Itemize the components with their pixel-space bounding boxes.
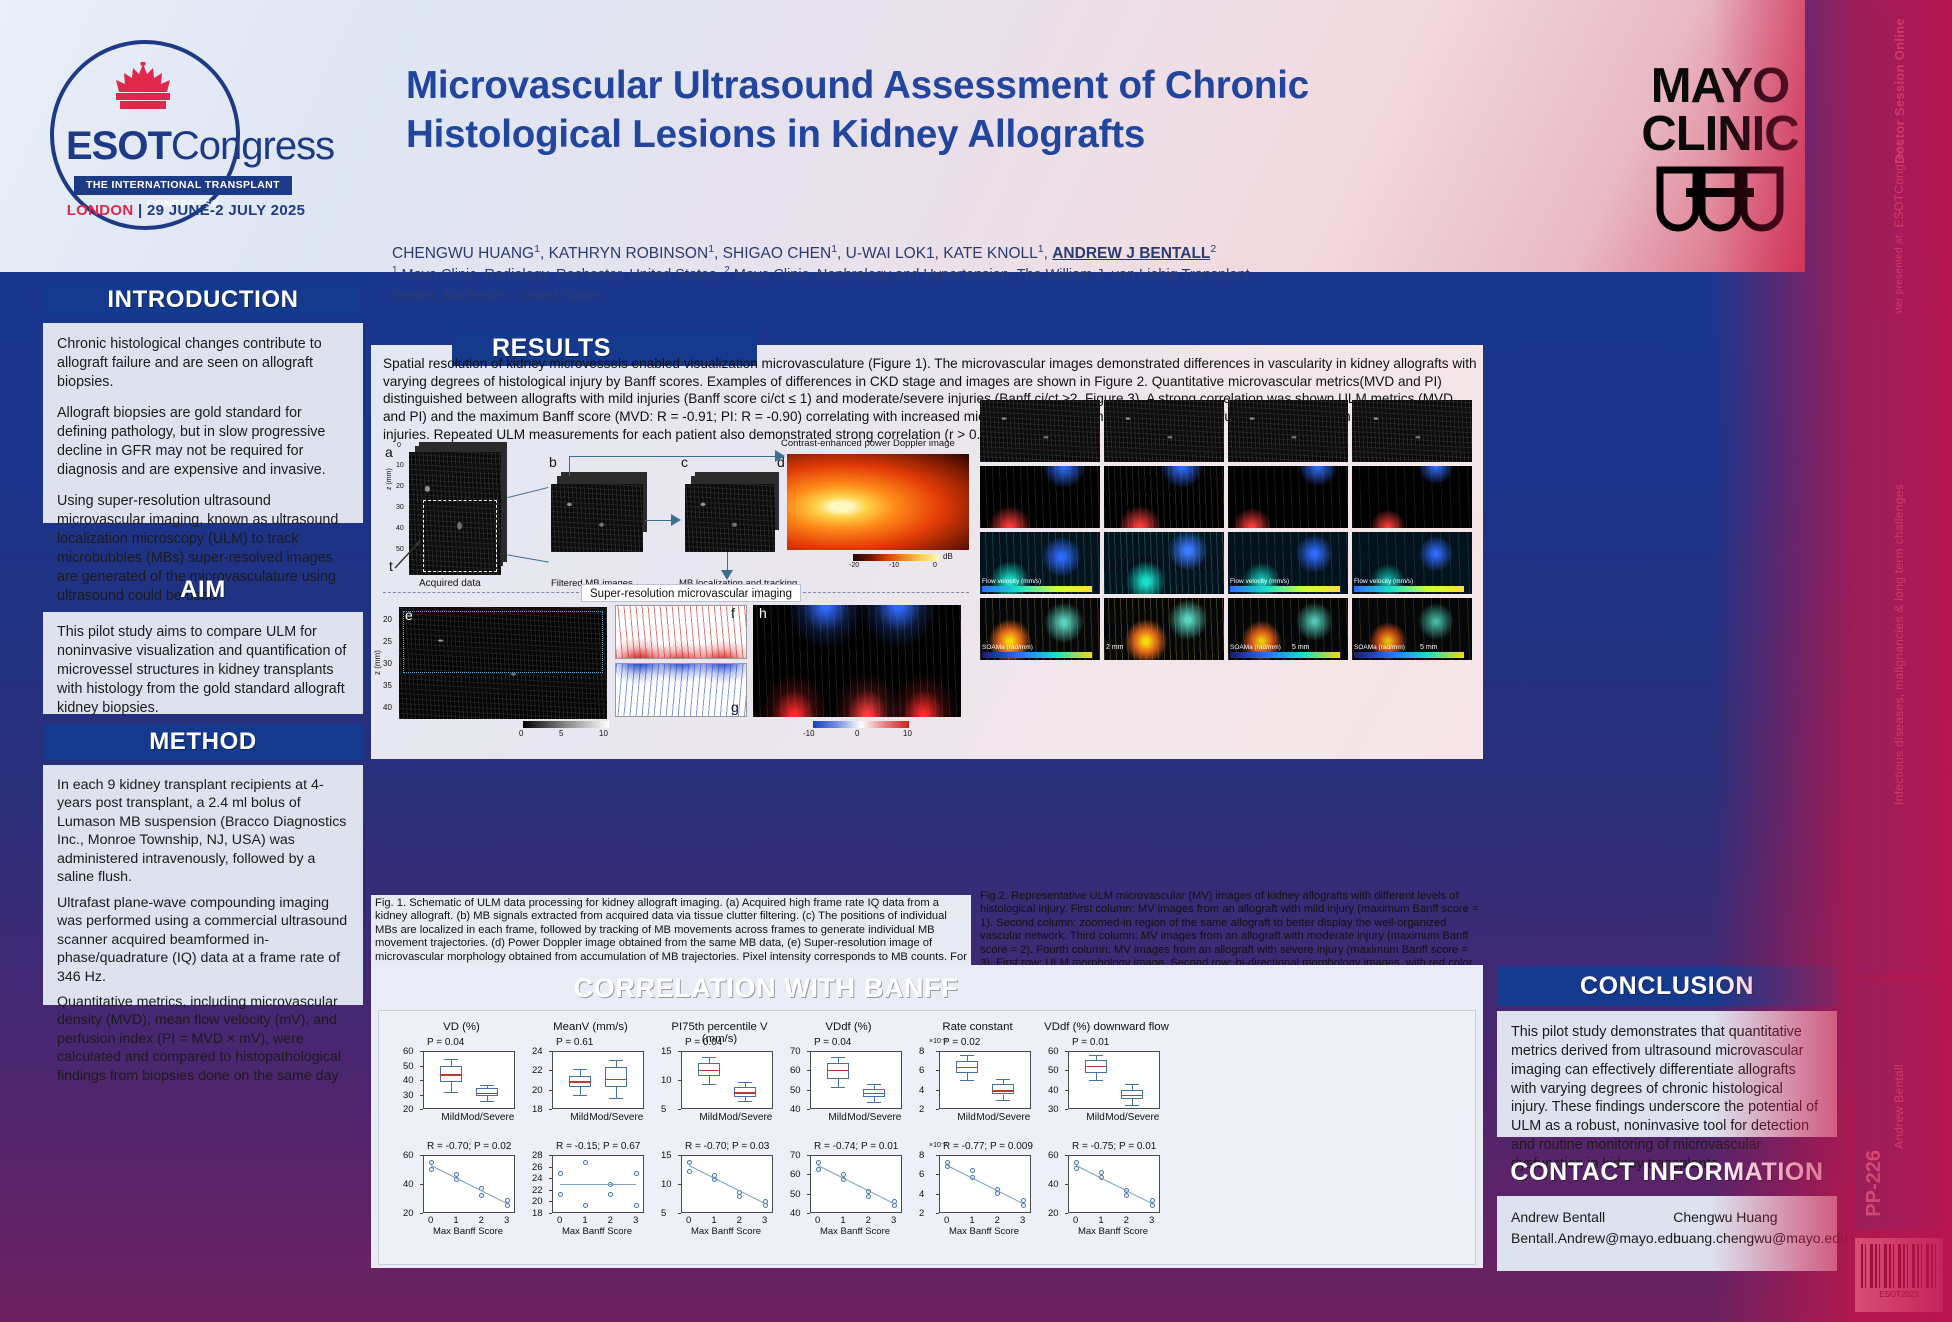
figure1-e-tick-25: 25 bbox=[383, 637, 392, 646]
chart-7-xlabel: Max Banff Score bbox=[407, 1226, 529, 1237]
chart-5-ytick-0: 2 bbox=[919, 1104, 924, 1115]
barcode-icon bbox=[1861, 1244, 1937, 1288]
section-heading-method: METHOD bbox=[43, 724, 363, 760]
section-heading-aim: AIM bbox=[43, 573, 363, 607]
aim-paragraph-1: This pilot study aims to compare ULM for… bbox=[57, 623, 349, 718]
figure2-scalebar-3: 5 mm bbox=[1420, 644, 1438, 651]
figure2-cbar-label-3: Flow velocity (mm/s) bbox=[1354, 578, 1413, 585]
figure1-e-tick-30: 30 bbox=[383, 659, 392, 668]
chart-8-ytick-1: 20 bbox=[532, 1196, 543, 1207]
chart-2-ytick-3: 24 bbox=[532, 1046, 543, 1057]
chart-12-ytick-0: 20 bbox=[1048, 1208, 1059, 1219]
chart-12-ytick-1: 40 bbox=[1048, 1179, 1059, 1190]
chart-6-ytick-3: 60 bbox=[1048, 1046, 1059, 1057]
chart-annotation-2: P = 0.61 bbox=[556, 1037, 593, 1048]
figure1-superres-banner: Super-resolution microvascular imaging bbox=[581, 584, 801, 602]
chart-4-xcat-1: Mod/Severe bbox=[846, 1112, 902, 1123]
chart-title-1: VD (%) bbox=[397, 1021, 526, 1033]
figure-2: Flow velocity (mm/s) Flow velocity (mm/s… bbox=[980, 400, 1480, 670]
chart-12-xtick-1: 1 bbox=[1098, 1215, 1103, 1226]
figure1-e-cbar-0: 0 bbox=[519, 729, 523, 738]
figure2-cbar-label-4: SOAMa (rad/mm) bbox=[982, 644, 1033, 651]
chart-cell-9: R = -0.70; P = 0.03510150123Max Banff Sc… bbox=[655, 1139, 784, 1254]
chart-8-xtick-0: 0 bbox=[557, 1215, 562, 1226]
chart-10-xlabel: Max Banff Score bbox=[794, 1226, 916, 1237]
esot-wordmark: ESOTCongress bbox=[66, 126, 306, 166]
esot-tagline: THE INTERNATIONAL TRANSPLANT CONGRESS® bbox=[74, 176, 292, 195]
chart-12-point-5 bbox=[1124, 1193, 1129, 1198]
chart-9-xtick-2: 2 bbox=[737, 1215, 742, 1226]
chart-1-ytick-4: 60 bbox=[403, 1046, 414, 1057]
figure1-e-tick-35: 35 bbox=[383, 681, 392, 690]
chart-4-ytick-1: 50 bbox=[790, 1085, 801, 1096]
chart-title-5: Rate constant bbox=[913, 1021, 1042, 1033]
chart-annotation-12: R = -0.75; P = 0.01 bbox=[1072, 1141, 1156, 1152]
section-body-method: In each 9 kidney transplant recipients a… bbox=[43, 765, 363, 1005]
chart-8-trendline bbox=[560, 1184, 636, 1185]
figure2-scalebar-1: 2 mm bbox=[1106, 644, 1124, 651]
chart-11-xtick-0: 0 bbox=[944, 1215, 949, 1226]
chart-title-2: MeanV (mm/s) bbox=[526, 1021, 655, 1033]
chart-cell-3: PI75th percentile V (mm/s)P = 0.0451015M… bbox=[655, 1021, 784, 1136]
chart-7-xtick-1: 1 bbox=[453, 1215, 458, 1226]
chart-12-xtick-2: 2 bbox=[1124, 1215, 1129, 1226]
chart-4-ytick-0: 40 bbox=[790, 1104, 801, 1115]
chart-8-xtick-3: 3 bbox=[633, 1215, 638, 1226]
affiliations: 1 Mayo Clinic, Radiology, Rochester, Uni… bbox=[392, 264, 1292, 307]
chart-cell-1: VD (%)P = 0.042030405060MildMod/Severe bbox=[397, 1021, 526, 1136]
chart-9-ytick-2: 15 bbox=[661, 1150, 672, 1161]
chart-8-ytick-3: 24 bbox=[532, 1173, 543, 1184]
chart-cell-12: R = -0.75; P = 0.012040600123Max Banff S… bbox=[1042, 1139, 1171, 1254]
figure1-label-f: f bbox=[731, 605, 735, 621]
esot-thin-text: Congress bbox=[171, 124, 334, 168]
chart-8-point-2 bbox=[583, 1203, 588, 1208]
chart-7-ytick-1: 40 bbox=[403, 1179, 414, 1190]
section-body-conclusion: This pilot study demonstrates that quant… bbox=[1497, 1011, 1837, 1137]
chart-2-ytick-1: 20 bbox=[532, 1085, 543, 1096]
mayo-text-line1: MAYO bbox=[1620, 62, 1820, 110]
chart-annotation-11: R = -0.77; P = 0.009 bbox=[943, 1141, 1033, 1152]
chart-annotation-9: R = -0.70; P = 0.03 bbox=[685, 1141, 769, 1152]
chart-axis-exponent-5: ×10⁻³ bbox=[929, 1037, 947, 1045]
figure2-tile-r1c1 bbox=[980, 400, 1100, 462]
chart-7-xtick-3: 3 bbox=[504, 1215, 509, 1226]
esot-city-dates: LONDON | 29 JUNE-2 JULY 2025 bbox=[66, 202, 306, 219]
chart-plot-area-5 bbox=[939, 1051, 1031, 1109]
figure2-tile-r2c1 bbox=[980, 466, 1100, 528]
chart-10-ytick-1: 50 bbox=[790, 1189, 801, 1200]
chart-1-ytick-3: 50 bbox=[403, 1061, 414, 1072]
figure2-scalebar-2: 5 mm bbox=[1292, 644, 1310, 651]
chart-7-xtick-2: 2 bbox=[479, 1215, 484, 1226]
chart-6-ytick-0: 30 bbox=[1048, 1104, 1059, 1115]
section-body-contact: Andrew Bentall Bentall.Andrew@mayo.edu C… bbox=[1497, 1196, 1837, 1271]
chart-4-ytick-2: 60 bbox=[790, 1065, 801, 1076]
method-paragraph-2: Ultrafast plane-wave compounding imaging… bbox=[57, 894, 349, 986]
figure1-panel-d-image bbox=[787, 454, 969, 550]
chart-6-xcat-1: Mod/Severe bbox=[1104, 1112, 1160, 1123]
chart-12-xtick-0: 0 bbox=[1073, 1215, 1078, 1226]
figure1-e-cbar-10: 10 bbox=[599, 729, 608, 738]
poster-header: ESOTCongress THE INTERNATIONAL TRANSPLAN… bbox=[0, 0, 1805, 272]
method-paragraph-1: In each 9 kidney transplant recipients a… bbox=[57, 776, 349, 887]
chart-10-xtick-2: 2 bbox=[866, 1215, 871, 1226]
chart-plot-area-2 bbox=[552, 1051, 644, 1109]
chart-annotation-8: R = -0.15; P = 0.67 bbox=[556, 1141, 640, 1152]
section-heading-introduction: INTRODUCTION bbox=[43, 282, 363, 318]
chart-11-xtick-1: 1 bbox=[969, 1215, 974, 1226]
contact-column-1: Andrew Bentall Bentall.Andrew@mayo.edu bbox=[1511, 1207, 1673, 1249]
figure1-panel-f-image bbox=[615, 605, 747, 659]
section-body-introduction: Chronic histological changes contribute … bbox=[43, 323, 363, 523]
chart-7-point-1 bbox=[429, 1167, 434, 1172]
presenting-author: ANDREW J BENTALL bbox=[1052, 245, 1210, 262]
figure2-cbar-label-6: SOAMa (rad/mm) bbox=[1354, 644, 1405, 651]
mayo-text-line2: CLINIC bbox=[1620, 110, 1820, 158]
chart-9-ytick-0: 5 bbox=[661, 1208, 666, 1219]
chart-5-ytick-3: 8 bbox=[919, 1046, 924, 1057]
chart-8-point-7 bbox=[634, 1171, 639, 1176]
contact-person-2-name: Chengwu Huang bbox=[1673, 1207, 1817, 1228]
chart-11-xlabel: Max Banff Score bbox=[923, 1226, 1045, 1237]
chart-annotation-10: R = -0.74; P = 0.01 bbox=[814, 1141, 898, 1152]
chart-5-ytick-1: 4 bbox=[919, 1085, 924, 1096]
figure1-panel-h-image bbox=[753, 605, 961, 717]
figure1-db-tick-max: 0 bbox=[933, 562, 937, 569]
chart-plot-area-6 bbox=[1068, 1051, 1160, 1109]
chart-8-point-1 bbox=[558, 1171, 563, 1176]
chart-annotation-1: P = 0.04 bbox=[427, 1037, 464, 1048]
figure1-a-tick-20: 20 bbox=[396, 483, 404, 490]
figure1-time-arrow-icon bbox=[391, 536, 425, 570]
chart-3-ytick-2: 15 bbox=[661, 1046, 672, 1057]
chart-3-ytick-0: 5 bbox=[661, 1104, 666, 1115]
section-heading-correlation: CORRELATION WITH BANFF bbox=[371, 966, 1161, 1010]
chart-8-xlabel: Max Banff Score bbox=[536, 1226, 658, 1237]
chart-10-xtick-1: 1 bbox=[840, 1215, 845, 1226]
figure1-label-b: b bbox=[549, 454, 557, 470]
chart-annotation-5: P = 0.02 bbox=[943, 1037, 980, 1048]
figure1-a-tick-40: 40 bbox=[396, 525, 404, 532]
rail-topic-text: Infectious diseases, malignancies & long… bbox=[1892, 484, 1906, 805]
chart-5-xcat-1: Mod/Severe bbox=[975, 1112, 1031, 1123]
chart-10-ytick-0: 40 bbox=[790, 1208, 801, 1219]
chart-10-xtick-0: 0 bbox=[815, 1215, 820, 1226]
chart-cell-5: Rate constantP = 0.02×10⁻³2468MildMod/Se… bbox=[913, 1021, 1042, 1136]
chart-8-xtick-2: 2 bbox=[608, 1215, 613, 1226]
chart-3-ytick-1: 10 bbox=[661, 1075, 672, 1086]
figure1-stage-acquired: Acquired data bbox=[419, 578, 481, 589]
figure2-cbar-label-5: SOAMa (rad/mm) bbox=[1230, 644, 1281, 651]
figure1-db-label: dB bbox=[943, 552, 953, 561]
chart-11-xtick-2: 2 bbox=[995, 1215, 1000, 1226]
figure1-label-d: d bbox=[777, 454, 785, 470]
chart-2-ytick-2: 22 bbox=[532, 1065, 543, 1076]
chart-9-point-1 bbox=[687, 1169, 692, 1174]
chart-1-ytick-0: 20 bbox=[403, 1104, 414, 1115]
contact-person-1-email[interactable]: Bentall.Andrew@mayo.edu bbox=[1511, 1228, 1673, 1249]
figure1-a-tick-10: 10 bbox=[396, 462, 404, 469]
method-paragraph-3: Quantitative metrics, including microvas… bbox=[57, 993, 349, 1085]
esot-logo: ESOTCongress THE INTERNATIONAL TRANSPLAN… bbox=[36, 30, 298, 245]
chart-8-point-6 bbox=[634, 1203, 639, 1208]
rail-author-text: Andrew Bentall bbox=[1892, 1064, 1906, 1149]
chart-11-ytick-0: 2 bbox=[919, 1208, 924, 1219]
chart-8-point-0 bbox=[558, 1192, 563, 1197]
figure2-tile-r1c2 bbox=[1104, 400, 1224, 462]
figure1-e-cbar-5: 5 bbox=[559, 729, 563, 738]
chart-8-point-3 bbox=[583, 1160, 588, 1165]
chart-2-ytick-0: 18 bbox=[532, 1104, 543, 1115]
figure-1-bottom-row: 20 25 30 35 40 z (mm) e 0 5 10 f g h -10… bbox=[383, 603, 975, 723]
author-list: CHENGWU HUANG1, KATHRYN ROBINSON1, SHIGA… bbox=[392, 243, 1372, 263]
figure1-db-tick-mid: -10 bbox=[889, 562, 899, 569]
esot-city: LONDON bbox=[67, 202, 134, 219]
chart-cell-6: VDdf (%) downward flowP = 0.0130405060Mi… bbox=[1042, 1021, 1171, 1136]
chart-11-ytick-2: 6 bbox=[919, 1169, 924, 1180]
chart-10-ytick-3: 70 bbox=[790, 1150, 801, 1161]
chart-title-6: VDdf (%) downward flow bbox=[1042, 1021, 1171, 1033]
chart-7-ytick-2: 60 bbox=[403, 1150, 414, 1161]
figure1-db-tick-min: -20 bbox=[849, 562, 859, 569]
chart-8-xtick-1: 1 bbox=[582, 1215, 587, 1226]
chart-annotation-6: P = 0.01 bbox=[1072, 1037, 1109, 1048]
figure1-a-tick-30: 30 bbox=[396, 504, 404, 511]
figure2-tile-r2c2 bbox=[1104, 466, 1224, 528]
figure1-e-axis-label: z (mm) bbox=[373, 650, 382, 675]
figure1-e-tick-40: 40 bbox=[383, 703, 392, 712]
chart-9-xlabel: Max Banff Score bbox=[665, 1226, 787, 1237]
chart-cell-7: R = -0.70; P = 0.022040600123Max Banff S… bbox=[397, 1139, 526, 1254]
figure1-panel-g-image bbox=[615, 663, 747, 717]
contact-column-2: Chengwu Huang huang.chengwu@mayo.edu bbox=[1673, 1207, 1817, 1249]
chart-1-xcat-1: Mod/Severe bbox=[459, 1112, 515, 1123]
chart-2-box-1 bbox=[605, 1067, 627, 1087]
chart-4-ytick-3: 70 bbox=[790, 1046, 801, 1057]
figure1-panel-c-image bbox=[685, 484, 775, 552]
figure1-h-cbar-max: 10 bbox=[903, 729, 912, 738]
chart-11-point-2 bbox=[970, 1168, 975, 1173]
chart-cell-10: R = -0.74; P = 0.01405060700123Max Banff… bbox=[784, 1139, 913, 1254]
figure1-e-tick-20: 20 bbox=[383, 615, 392, 624]
chart-9-xtick-0: 0 bbox=[686, 1215, 691, 1226]
chart-1-ytick-2: 40 bbox=[403, 1075, 414, 1086]
rail-barcode-card: ESOT2023 bbox=[1855, 1238, 1943, 1312]
figure2-cbar-label-2: Flow velocity (mm/s) bbox=[1230, 578, 1289, 585]
chart-11-xtick-3: 3 bbox=[1020, 1215, 1025, 1226]
mayo-clinic-logo: MAYO CLINIC bbox=[1620, 62, 1820, 253]
chart-6-ytick-2: 50 bbox=[1048, 1065, 1059, 1076]
charts-root: VD (%)P = 0.042030405060MildMod/SevereMe… bbox=[379, 1011, 1475, 1264]
figure1-panel-b-image bbox=[551, 484, 643, 552]
contact-person-2-email[interactable]: huang.chengwu@mayo.edu bbox=[1673, 1228, 1817, 1249]
figure1-label-a: a bbox=[385, 444, 393, 460]
chart-cell-8: R = -0.15; P = 0.671820222426280123Max B… bbox=[526, 1139, 655, 1254]
rail-card-branding: Doctor Session Online ESOTCongress Poste… bbox=[1855, 10, 1943, 306]
esot-sep: | bbox=[138, 202, 143, 219]
barcode-label: ESOT2023 bbox=[1855, 1290, 1943, 1299]
figure1-h-cbar-min: -10 bbox=[803, 729, 815, 738]
figure1-a-tick-0: 0 bbox=[397, 442, 401, 449]
chart-10-point-1 bbox=[816, 1167, 821, 1172]
figure2-tile-r3c2 bbox=[1104, 532, 1224, 594]
figure1-h-cbar-mid: 0 bbox=[855, 729, 859, 738]
chart-annotation-4: P = 0.04 bbox=[814, 1037, 851, 1048]
chart-12-xlabel: Max Banff Score bbox=[1052, 1226, 1174, 1237]
section-body-aim: This pilot study aims to compare ULM for… bbox=[43, 612, 363, 714]
chart-12-xtick-3: 3 bbox=[1149, 1215, 1154, 1226]
contact-person-1-name: Andrew Bentall bbox=[1511, 1207, 1673, 1228]
figure1-stage-doppler: Contrast-enhanced power Doppler image bbox=[781, 438, 955, 449]
figure1-label-h: h bbox=[759, 605, 767, 621]
chart-3-xcat-1: Mod/Severe bbox=[717, 1112, 773, 1123]
mayo-shield-icon bbox=[1656, 166, 1784, 248]
chart-2-xcat-1: Mod/Severe bbox=[588, 1112, 644, 1123]
figure2-tile-r2c3 bbox=[1228, 466, 1348, 528]
chart-12-ytick-2: 60 bbox=[1048, 1150, 1059, 1161]
poster-number: PP-226 bbox=[1863, 1150, 1886, 1217]
figure2-cbar-label-1: Flow velocity (mm/s) bbox=[982, 578, 1041, 585]
chart-9-ytick-1: 10 bbox=[661, 1179, 672, 1190]
rail-esot-congress: ESOTCongress bbox=[1892, 140, 1906, 228]
chart-11-ytick-1: 4 bbox=[919, 1189, 924, 1200]
chart-cell-11: R = -0.77; P = 0.009×10⁻³24680123Max Ban… bbox=[913, 1139, 1042, 1254]
section-heading-conclusion: CONCLUSION bbox=[1497, 966, 1837, 1006]
figure2-tile-r1c3 bbox=[1228, 400, 1348, 462]
chart-9-xtick-3: 3 bbox=[762, 1215, 767, 1226]
chart-5-ytick-2: 6 bbox=[919, 1065, 924, 1076]
chart-axis-exponent-11: ×10⁻³ bbox=[929, 1141, 947, 1149]
crown-icon bbox=[98, 62, 188, 116]
chart-6-ytick-1: 40 bbox=[1048, 1085, 1059, 1096]
chart-plot-area-3 bbox=[681, 1051, 773, 1109]
chart-8-ytick-4: 26 bbox=[532, 1162, 543, 1173]
chart-7-ytick-0: 20 bbox=[403, 1208, 414, 1219]
right-side-rail: Doctor Session Online ESOTCongress Poste… bbox=[1845, 0, 1952, 1322]
chart-annotation-3: P = 0.04 bbox=[685, 1037, 722, 1048]
rail-card-topic: Infectious diseases, malignancies & long… bbox=[1855, 314, 1943, 974]
chart-11-ytick-3: 8 bbox=[919, 1150, 924, 1161]
section-heading-contact: CONTACT INFORMATION bbox=[1497, 1152, 1837, 1192]
figure-3: VD (%)P = 0.042030405060MildMod/SevereMe… bbox=[378, 1010, 1476, 1265]
chart-8-ytick-2: 22 bbox=[532, 1185, 543, 1196]
chart-7-xtick-0: 0 bbox=[428, 1215, 433, 1226]
chart-cell-2: MeanV (mm/s)P = 0.6118202224MildMod/Seve… bbox=[526, 1021, 655, 1136]
esot-bold-text: ESOT bbox=[66, 124, 171, 168]
page-title: Microvascular Ultrasound Assessment of C… bbox=[406, 62, 1416, 160]
intro-paragraph-1: Chronic histological changes contribute … bbox=[57, 335, 349, 392]
chart-10-xtick-3: 3 bbox=[891, 1215, 896, 1226]
chart-8-ytick-0: 18 bbox=[532, 1208, 543, 1219]
chart-1-ytick-1: 30 bbox=[403, 1090, 414, 1101]
chart-8-ytick-5: 28 bbox=[532, 1150, 543, 1161]
poster-root: ESOTCongress THE INTERNATIONAL TRANSPLAN… bbox=[0, 0, 1952, 1322]
chart-plot-area-4 bbox=[810, 1051, 902, 1109]
figure1-label-g: g bbox=[731, 699, 739, 715]
esot-dates: 29 JUNE-2 JULY 2025 bbox=[147, 202, 305, 219]
chart-plot-area-1 bbox=[423, 1051, 515, 1109]
chart-9-xtick-1: 1 bbox=[711, 1215, 716, 1226]
chart-10-ytick-2: 60 bbox=[790, 1169, 801, 1180]
intro-paragraph-2: Allograft biopsies are gold standard for… bbox=[57, 404, 349, 480]
chart-cell-4: VDdf (%)P = 0.0440506070MildMod/Severe bbox=[784, 1021, 913, 1136]
figure1-a-axis-label: z (mm) bbox=[386, 468, 393, 490]
chart-title-4: VDdf (%) bbox=[784, 1021, 913, 1033]
figure2-tile-r2c4 bbox=[1352, 466, 1472, 528]
chart-annotation-7: R = -0.70; P = 0.02 bbox=[427, 1141, 511, 1152]
figure2-tile-r1c4 bbox=[1352, 400, 1472, 462]
